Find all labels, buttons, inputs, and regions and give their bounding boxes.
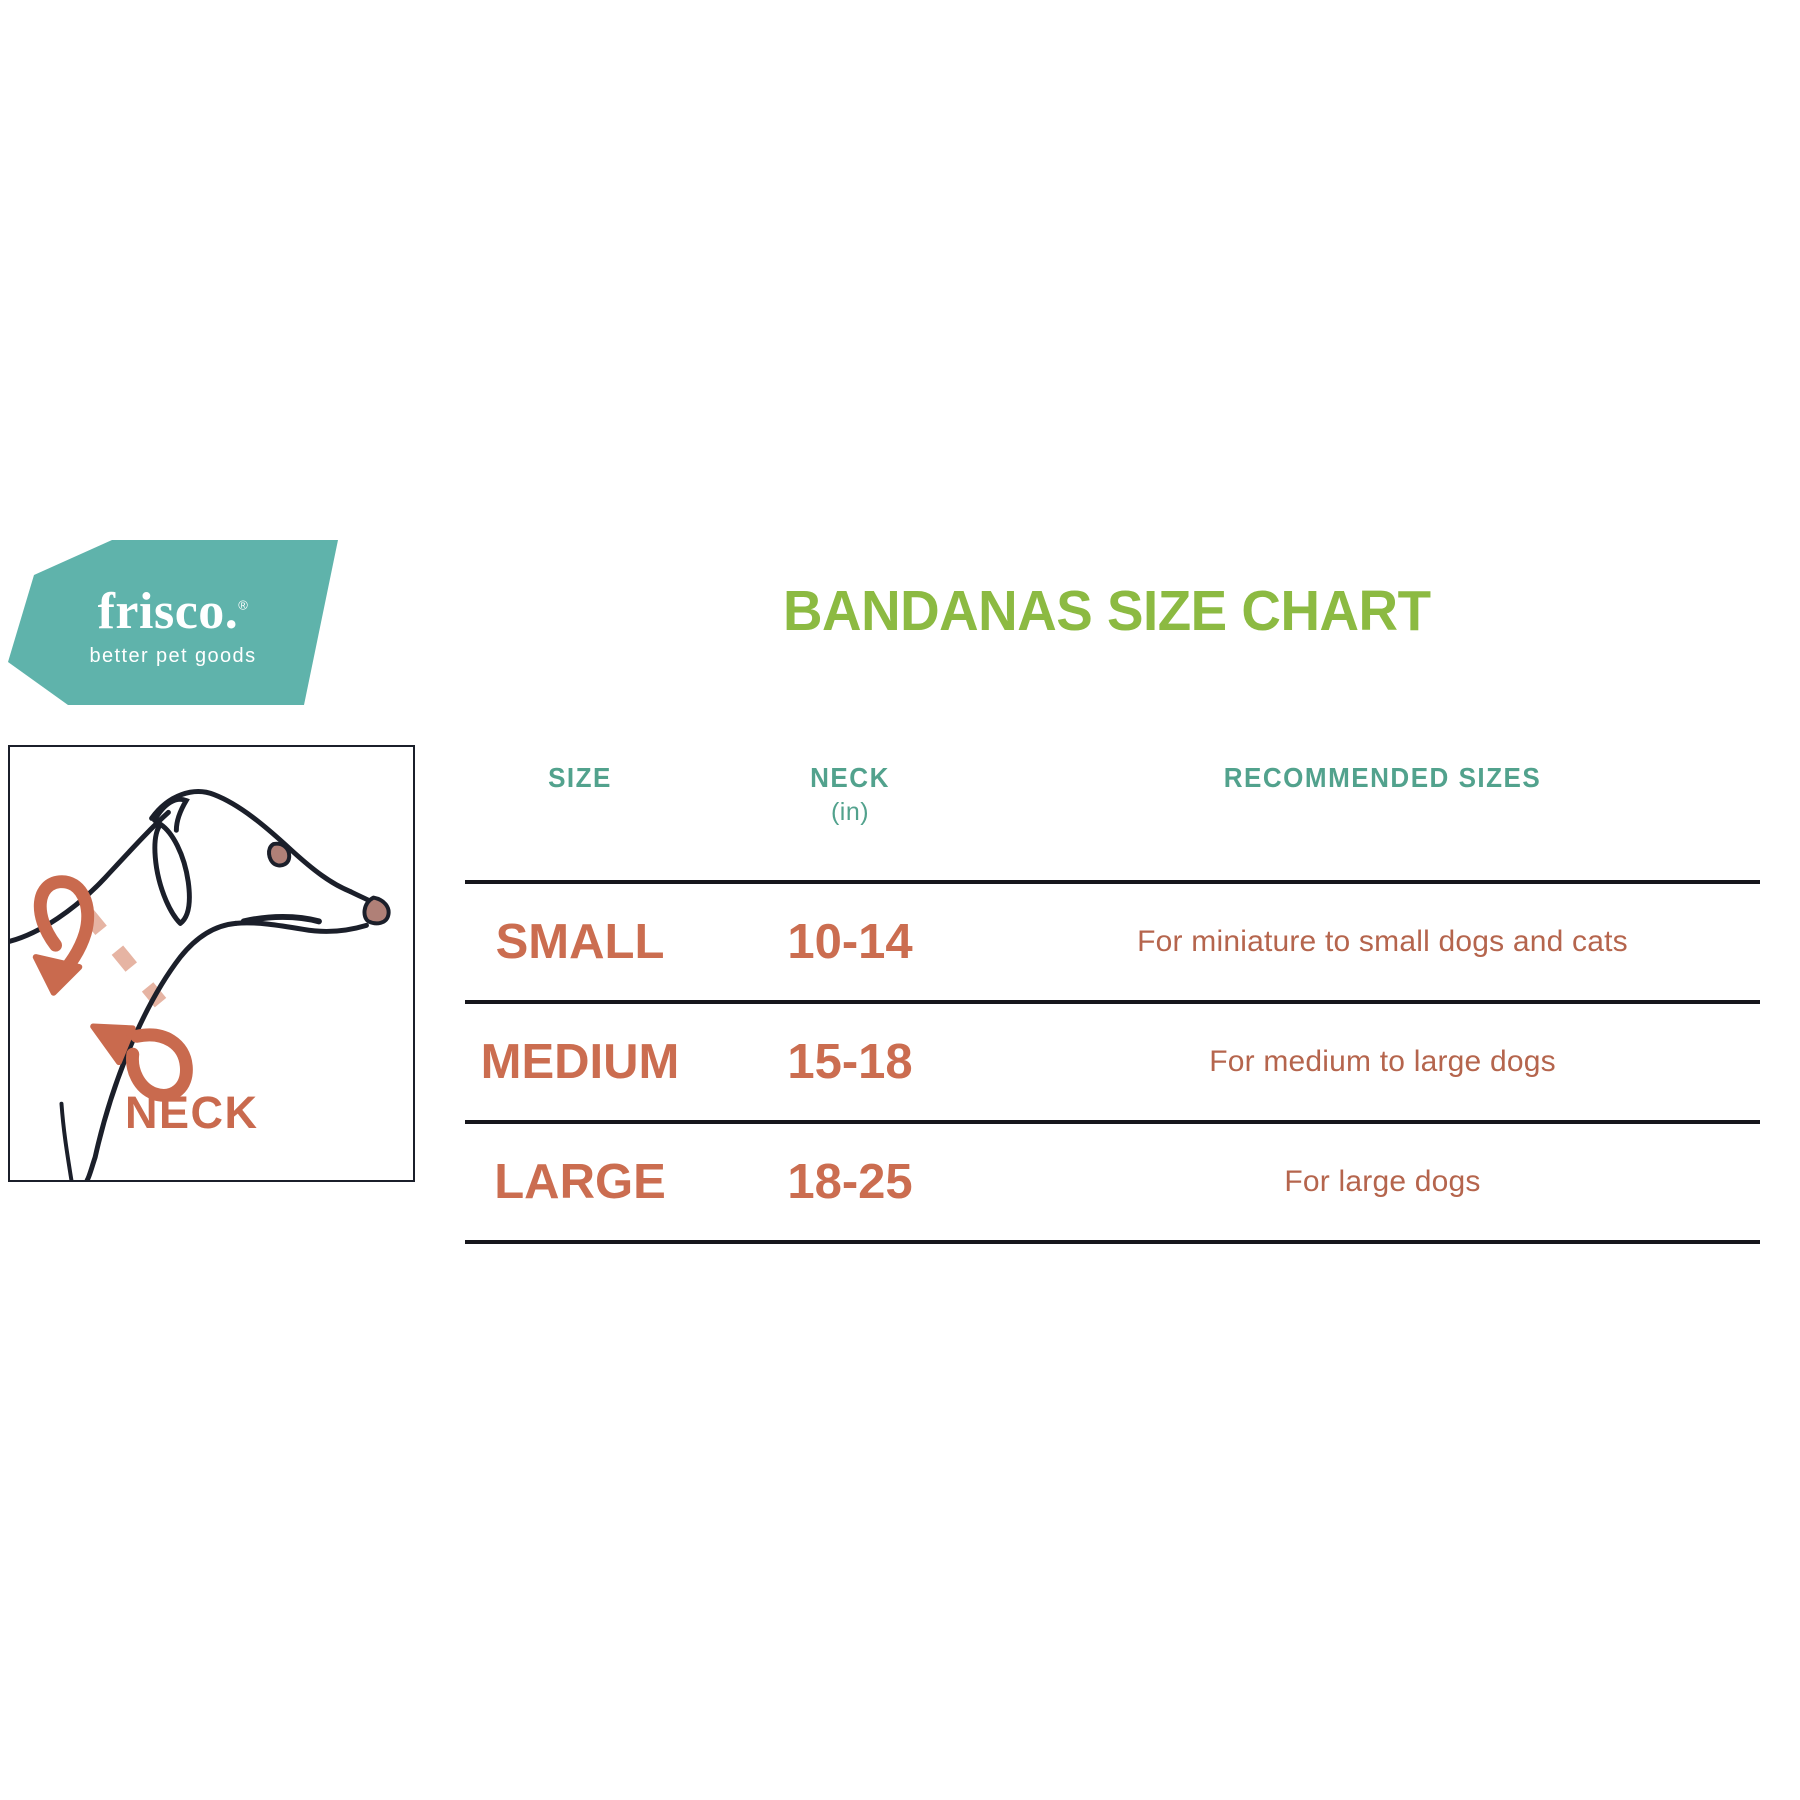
dog-eye-icon	[269, 844, 289, 866]
logo-wordmark: frisco.®	[98, 586, 249, 638]
column-header-recommended: RECOMMENDED SIZES	[1005, 760, 1760, 795]
size-chart-page: frisco.® better pet goods	[0, 0, 1800, 1800]
dog-nose-icon	[364, 898, 388, 924]
page-title: BANDANAS SIZE CHART	[783, 583, 1431, 640]
cell-size-small: SMALL	[465, 914, 695, 970]
table-row: LARGE 18-25 For large dogs	[465, 1124, 1760, 1240]
table-header-row: SIZE NECK (in) RECOMMENDED SIZES	[465, 760, 1760, 880]
cell-neck-large: 18-25	[695, 1154, 1005, 1210]
cell-recommended-small: For miniature to small dogs and cats	[1005, 925, 1760, 959]
column-header-size: SIZE	[465, 760, 695, 795]
frisco-logo: frisco.® better pet goods	[8, 540, 338, 705]
dashed-measure-line-icon	[87, 913, 160, 1002]
logo-wordmark-text: frisco	[98, 583, 225, 640]
logo-wordmark-period: .	[225, 583, 239, 640]
logo-tagline: better pet goods	[90, 646, 257, 666]
cell-recommended-large: For large dogs	[1005, 1165, 1760, 1199]
cell-size-large: LARGE	[465, 1154, 695, 1210]
column-header-neck-unit: (in)	[695, 795, 1005, 830]
cell-neck-medium: 15-18	[695, 1034, 1005, 1090]
size-chart-table: SIZE NECK (in) RECOMMENDED SIZES SMALL 1…	[465, 760, 1760, 1244]
cell-recommended-medium: For medium to large dogs	[1005, 1045, 1760, 1079]
table-row: SMALL 10-14 For miniature to small dogs …	[465, 884, 1760, 1000]
registered-trademark-icon: ®	[238, 597, 248, 612]
neck-caption: NECK	[125, 1090, 259, 1135]
table-row: MEDIUM 15-18 For medium to large dogs	[465, 1004, 1760, 1120]
table-rule-bottom	[465, 1240, 1760, 1244]
cell-size-medium: MEDIUM	[465, 1034, 695, 1090]
column-header-neck: NECK (in)	[695, 760, 1005, 830]
cell-neck-small: 10-14	[695, 914, 1005, 970]
logo-text-group: frisco.® better pet goods	[8, 540, 338, 705]
